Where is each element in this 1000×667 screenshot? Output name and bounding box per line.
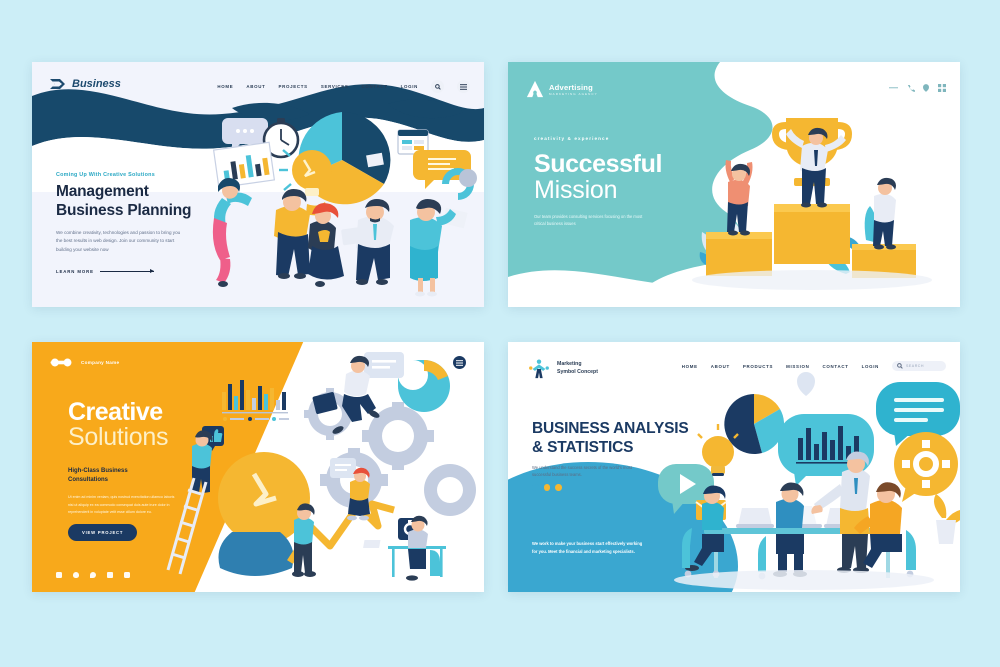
dot-3[interactable]	[555, 484, 562, 491]
panel1-learn-more-link[interactable]: LEARN MORE	[56, 269, 196, 274]
nav-item-login[interactable]: LOGIN	[401, 84, 418, 89]
panel2-carousel-controls[interactable]: ‹ ›	[534, 277, 569, 291]
standing-person-graphic	[873, 178, 896, 250]
plant-graphic	[934, 494, 960, 544]
panel1-title-line2: Business Planning	[56, 202, 196, 221]
panel3-body: Ut enim ad minim veniam, quis nostrud ex…	[68, 494, 180, 517]
donut-chart-graphic	[398, 360, 450, 412]
panel1-nav[interactable]: HOME ABOUT PROJECTS SERVICES CONTACT LOG…	[217, 80, 470, 93]
panel4-body: We understand the success secrets of the…	[532, 464, 650, 479]
panel-successful-mission[interactable]: Advertising MARKETING AGENCY creativity …	[508, 62, 960, 307]
panel-creative-solutions[interactable]: Company Name Creative Solutions High-Cla…	[32, 342, 484, 592]
panel1-team-illustration	[192, 98, 484, 307]
pie-chart-graphic	[724, 394, 784, 454]
panel4-brand: Marketing Symbol Concept	[557, 361, 598, 376]
panel3-title: Creative Solutions	[68, 400, 168, 450]
panel1-title-line1: Management	[56, 183, 196, 202]
panel4-meeting-illustration	[658, 368, 960, 592]
panel2-brand-main: Advertising	[549, 83, 598, 92]
pin-icon[interactable]	[90, 572, 96, 578]
winner-person-graphic	[786, 128, 846, 208]
person-tie-graphic	[341, 199, 394, 285]
panel4-brand-line2: Symbol Concept	[557, 369, 598, 377]
nav-item-about[interactable]: ABOUT	[246, 84, 265, 89]
phone-icon[interactable]	[907, 84, 914, 92]
nav-item-services[interactable]: SERVICES	[321, 84, 349, 89]
panel2-podium-illustration	[700, 104, 960, 294]
panel2-text-block: creativity & experience Successful Missi…	[534, 136, 709, 227]
dot-2[interactable]	[544, 484, 551, 491]
panel2-title-line1: Successful	[534, 151, 709, 177]
grid-icon[interactable]	[938, 84, 946, 92]
nav-item-projects[interactable]: PROJECTS	[279, 84, 308, 89]
panel2-eyebrow: creativity & experience	[534, 136, 709, 141]
person-teal-graphic	[410, 199, 456, 297]
people-symbol-logo-icon	[528, 358, 550, 380]
bar-chart-graphic	[222, 380, 289, 421]
panel2-body: Our team provides consulting services fo…	[534, 213, 654, 228]
panel4-body-secondary: We work to make your business start effe…	[532, 540, 648, 556]
instagram-icon[interactable]	[56, 572, 62, 578]
arrow-right-icon	[100, 271, 154, 272]
carousel-prev-button[interactable]: ‹	[534, 277, 548, 291]
person-pink-graphic	[213, 178, 252, 287]
carousel-next-button[interactable]: ›	[555, 277, 569, 291]
panel2-brand: Advertising MARKETING AGENCY	[549, 83, 598, 96]
view-project-button[interactable]: VIEW PROJECT	[68, 524, 137, 541]
poster-board: Business HOME ABOUT PROJECTS SERVICES CO…	[0, 0, 1000, 667]
panel3-logo[interactable]: Company Name	[50, 358, 119, 367]
panel4-logo[interactable]: Marketing Symbol Concept	[528, 358, 598, 380]
panel3-social-links[interactable]	[56, 572, 130, 578]
search-icon[interactable]	[431, 80, 444, 93]
panel2-nav-icons[interactable]	[889, 84, 946, 92]
panel1-text-block: Coming Up With Creative Solutions Manage…	[56, 172, 196, 274]
pin-icon[interactable]	[923, 84, 929, 92]
chat-bubble-small-graphic	[330, 458, 356, 478]
panel1-body: We combine creativity, technologies and …	[56, 229, 184, 254]
chat-bubble-graphic	[364, 352, 404, 378]
phone-icon[interactable]	[73, 572, 79, 578]
bone-logo-icon	[50, 358, 76, 367]
panel-business-analysis-statistics[interactable]: Marketing Symbol Concept HOME ABOUT PROD…	[508, 342, 960, 592]
panel4-dots[interactable]	[532, 484, 562, 491]
panel1-logo-text: Business	[72, 78, 121, 90]
triangle-a-logo-icon	[526, 80, 544, 98]
panel1-title: Management Business Planning	[56, 183, 196, 221]
panel-management-business-planning[interactable]: Business HOME ABOUT PROJECTS SERVICES CO…	[32, 62, 484, 307]
nav-item-contact[interactable]: CONTACT	[362, 84, 388, 89]
gear-bubble-graphic	[894, 432, 958, 502]
panel2-brand-sub: MARKETING AGENCY	[549, 92, 598, 96]
panel3-idea-illustration	[202, 350, 484, 592]
person-redhair-graphic	[308, 203, 344, 287]
chat-icon[interactable]	[124, 572, 130, 578]
panel3-title-line1: Creative	[68, 400, 168, 425]
panel1-eyebrow: Coming Up With Creative Solutions	[56, 172, 196, 178]
panel2-title: Successful Mission	[534, 151, 709, 204]
panel4-brand-line1: Marketing	[557, 361, 598, 369]
menu-icon[interactable]	[457, 80, 470, 93]
mail-icon[interactable]	[107, 572, 113, 578]
panel2-title-line2: Mission	[534, 177, 709, 203]
panel3-company-name: Company Name	[81, 360, 119, 365]
cheering-person-graphic	[726, 160, 753, 236]
minus-icon[interactable]	[889, 87, 898, 90]
donut-chart-graphic	[442, 168, 477, 200]
arrow-logo-icon	[50, 78, 66, 90]
dot-1[interactable]	[532, 484, 539, 491]
panel3-subtitle: High-Class Business Consultations	[68, 467, 163, 485]
panel1-logo[interactable]: Business	[50, 78, 121, 90]
panel1-cta-label: LEARN MORE	[56, 269, 94, 274]
map-pin-graphic	[797, 372, 815, 396]
podium-first	[774, 204, 850, 264]
nav-item-home[interactable]: HOME	[217, 84, 233, 89]
panel2-logo[interactable]: Advertising MARKETING AGENCY	[526, 80, 598, 98]
panel3-title-line2: Solutions	[68, 425, 168, 450]
